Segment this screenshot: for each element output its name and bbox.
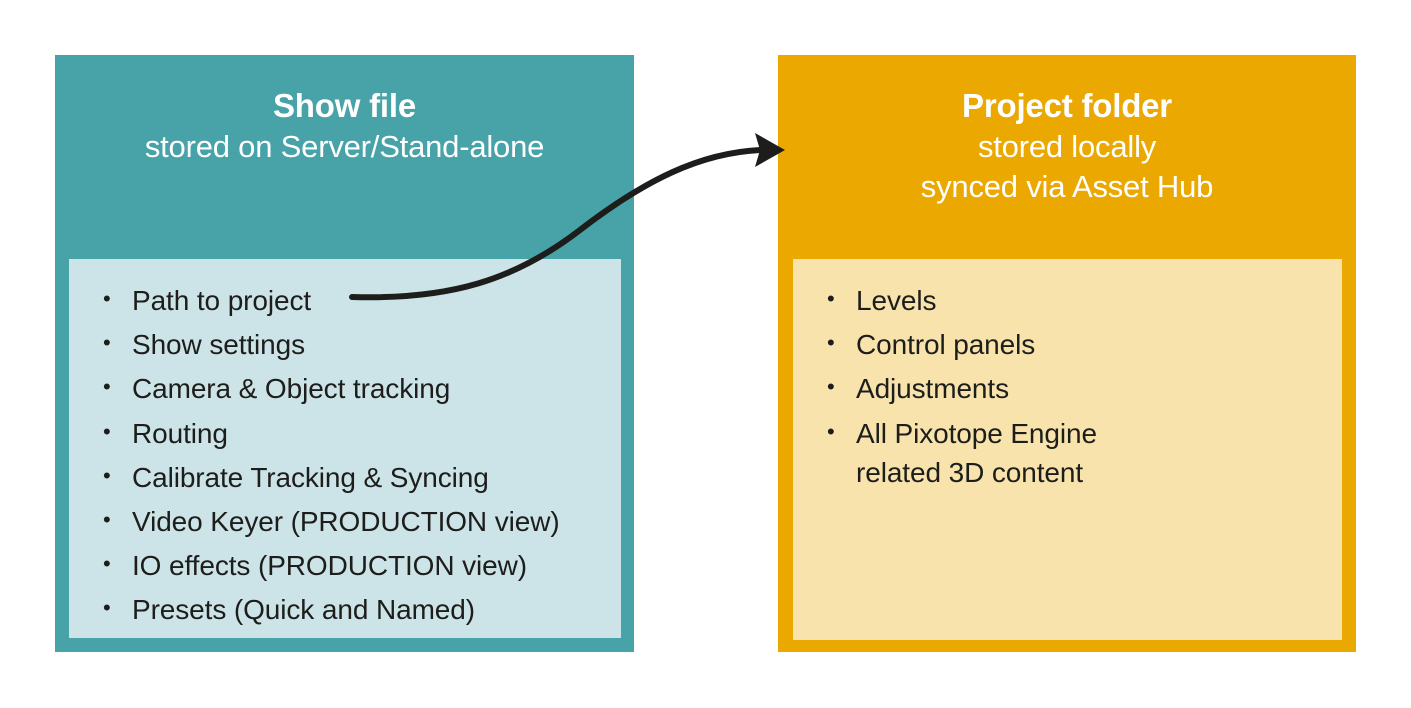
list-item: Show settings [99,325,621,364]
show-file-heading: Show file stored on Server/Stand-alone [55,85,634,167]
list-item: All Pixotope Engine related 3D content [823,414,1342,492]
project-folder-subtitle-line-1: stored locally [782,127,1352,167]
list-item-label: Video Keyer (PRODUCTION view) [132,506,560,537]
list-item-label: Presets (Quick and Named) [132,594,475,625]
project-folder-heading: Project folder stored locally synced via… [778,85,1356,207]
list-item-label: Camera & Object tracking [132,373,450,404]
show-file-contents-panel: Path to project Show settings Camera & O… [69,259,621,638]
project-folder-card: Project folder stored locally synced via… [778,55,1356,652]
list-item: Levels [823,281,1342,320]
list-item-label: All Pixotope Engine [856,418,1097,449]
project-folder-subtitle-line-2: synced via Asset Hub [782,167,1352,207]
project-folder-title: Project folder [782,85,1352,127]
list-item: Adjustments [823,369,1342,408]
list-item-label: Adjustments [856,373,1009,404]
list-item-label: Show settings [132,329,305,360]
show-file-item-list: Path to project Show settings Camera & O… [69,259,621,630]
list-item-label: Calibrate Tracking & Syncing [132,462,489,493]
list-item: Video Keyer (PRODUCTION view) [99,502,621,541]
list-item-label: Routing [132,418,228,449]
list-item: IO effects (PRODUCTION view) [99,546,621,585]
list-item-label-continued: related 3D content [856,453,1342,492]
list-item-label: Path to project [132,285,311,316]
project-folder-contents-panel: Levels Control panels Adjustments All Pi… [793,259,1342,640]
list-item: Control panels [823,325,1342,364]
diagram-canvas: Show file stored on Server/Stand-alone P… [0,0,1411,708]
show-file-subtitle: stored on Server/Stand-alone [59,127,630,167]
list-item: Camera & Object tracking [99,369,621,408]
list-item-label: Control panels [856,329,1035,360]
list-item: Presets (Quick and Named) [99,590,621,629]
list-item-label: Levels [856,285,936,316]
project-folder-item-list: Levels Control panels Adjustments All Pi… [793,259,1342,492]
show-file-title: Show file [59,85,630,127]
list-item: Calibrate Tracking & Syncing [99,458,621,497]
list-item: Routing [99,414,621,453]
show-file-card: Show file stored on Server/Stand-alone P… [55,55,634,652]
list-item: Path to project [99,281,621,320]
list-item-label: IO effects (PRODUCTION view) [132,550,527,581]
